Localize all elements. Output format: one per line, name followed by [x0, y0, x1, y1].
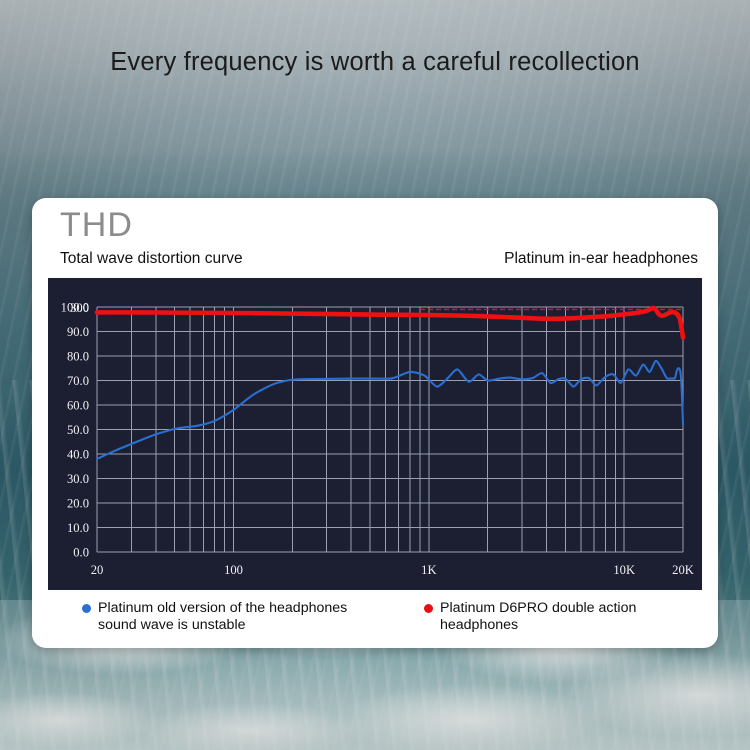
legend-dot-blue	[82, 604, 91, 613]
thd-line-chart: 0.010.020.030.040.050.060.070.080.090.01…	[48, 278, 702, 590]
svg-text:50.0: 50.0	[67, 423, 89, 437]
svg-text:300: 300	[70, 301, 89, 315]
svg-text:80.0: 80.0	[67, 350, 89, 364]
chart-subtitle-left: Total wave distortion curve	[60, 250, 243, 268]
chart-y-tick-labels: 0.010.020.030.040.050.060.070.080.090.01…	[61, 301, 89, 560]
legend-item-red[interactable]: Platinum D6PRO double action headphones	[424, 600, 704, 633]
legend-label-blue: Platinum old version of the headphones s…	[98, 600, 372, 633]
page-headline: Every frequency is worth a careful recol…	[0, 48, 750, 77]
svg-text:60.0: 60.0	[67, 399, 89, 413]
svg-text:0.0: 0.0	[73, 546, 89, 560]
svg-text:100: 100	[224, 563, 243, 577]
chart-subtitle-right: Platinum in-ear headphones	[504, 250, 698, 268]
chart-plot-panel: 0.010.020.030.040.050.060.070.080.090.01…	[48, 278, 702, 590]
svg-text:90.0: 90.0	[67, 325, 89, 339]
svg-text:20K: 20K	[672, 563, 694, 577]
thd-chart-card: THD Total wave distortion curve Platinum…	[32, 198, 718, 648]
svg-text:30.0: 30.0	[67, 472, 89, 486]
svg-text:10K: 10K	[613, 563, 635, 577]
legend-item-blue[interactable]: Platinum old version of the headphones s…	[82, 600, 372, 633]
chart-series-layer	[97, 308, 683, 459]
svg-text:10.0: 10.0	[67, 521, 89, 535]
svg-text:20.0: 20.0	[67, 497, 89, 511]
legend-label-red: Platinum D6PRO double action headphones	[440, 600, 704, 633]
legend-dot-red	[424, 604, 433, 613]
svg-text:1K: 1K	[421, 563, 436, 577]
chart-legend: Platinum old version of the headphones s…	[32, 598, 718, 644]
chart-gridlines	[97, 307, 683, 552]
chart-title-thd: THD	[60, 206, 133, 245]
chart-x-tick-labels: 201001K10K20K	[91, 563, 694, 577]
svg-text:40.0: 40.0	[67, 448, 89, 462]
svg-text:70.0: 70.0	[67, 374, 89, 388]
svg-text:20: 20	[91, 563, 104, 577]
